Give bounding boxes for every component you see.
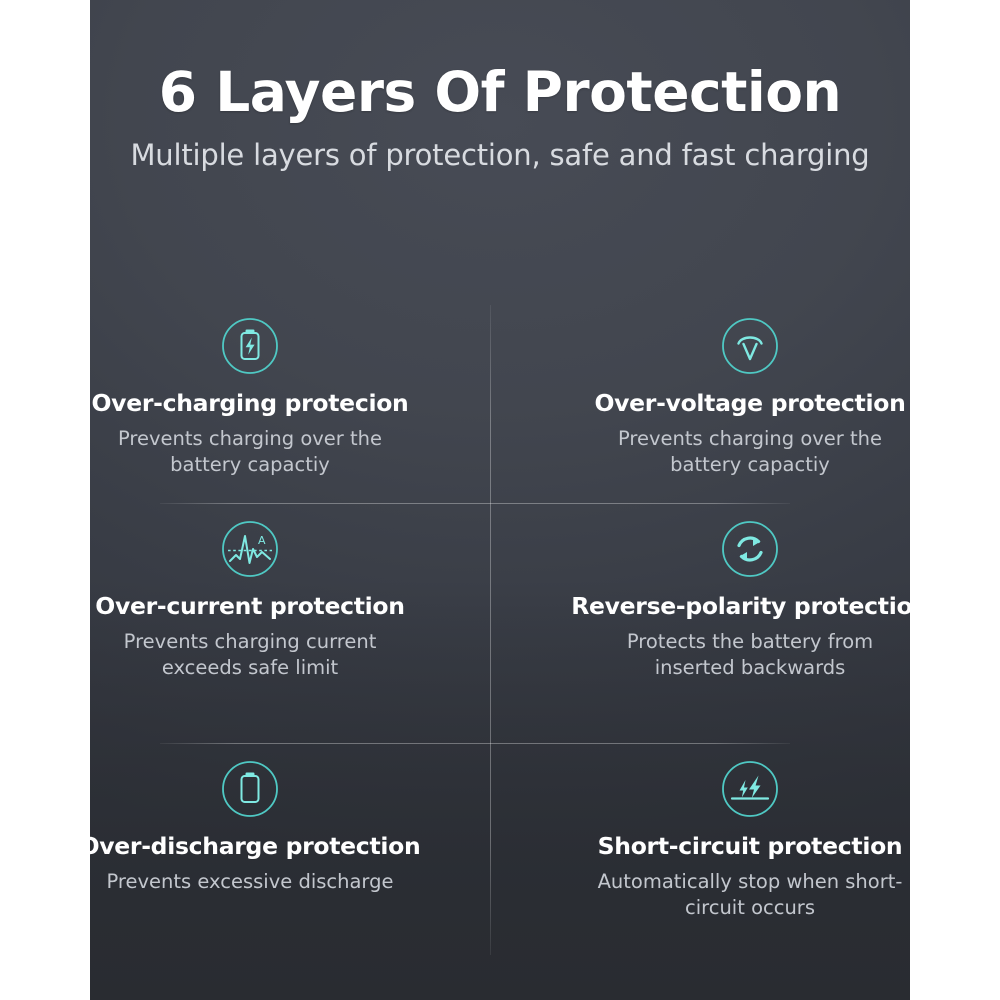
svg-text:A: A <box>258 534 266 547</box>
feature-title: Over-voltage protection <box>594 390 905 417</box>
features-grid: Over-charging protecion Prevents chargin… <box>0 300 1000 960</box>
feature-cell-short-circuit: Short-circuit protection Automatically s… <box>500 743 1000 960</box>
short-circuit-bolts-icon <box>720 759 780 819</box>
header: 6 Layers Of Protection Multiple layers o… <box>0 62 1000 172</box>
feature-description: Automatically stop when short-circuit oc… <box>585 869 915 922</box>
divider-vertical <box>490 305 491 955</box>
feature-title: Over-current protection <box>95 593 404 620</box>
feature-cell-reverse-polarity: Reverse-polarity protection Protects the… <box>500 503 1000 743</box>
feature-description: Prevents excessive discharge <box>107 869 394 895</box>
over-current-waveform-icon: A <box>220 519 280 579</box>
feature-title: Over-charging protecion <box>92 390 409 417</box>
page-subtitle: Multiple layers of protection, safe and … <box>0 138 1000 173</box>
divider-horizontal-bottom <box>160 743 790 744</box>
feature-description: Prevents charging over the battery capac… <box>585 426 915 479</box>
feature-description: Protects the battery from inserted backw… <box>585 629 915 682</box>
feature-title: Reverse-polarity protection <box>571 593 929 620</box>
feature-title: Over-discharge protection <box>80 833 421 860</box>
reverse-polarity-cycle-icon <box>720 519 780 579</box>
divider-horizontal-top <box>160 503 790 504</box>
feature-cell-over-current: A Over-current protection Prevents charg… <box>0 503 500 743</box>
feature-cell-over-voltage: Over-voltage protection Prevents chargin… <box>500 300 1000 503</box>
battery-charging-icon <box>220 316 280 376</box>
feature-description: Prevents charging current exceeds safe l… <box>85 629 415 682</box>
feature-description: Prevents charging over the battery capac… <box>85 426 415 479</box>
over-voltage-icon <box>720 316 780 376</box>
page-title: 6 Layers Of Protection <box>0 62 1000 124</box>
feature-title: Short-circuit protection <box>598 833 903 860</box>
promo-graphic: 6 Layers Of Protection Multiple layers o… <box>0 0 1000 1000</box>
battery-empty-icon <box>220 759 280 819</box>
feature-cell-over-discharge: Over-discharge protection Prevents exces… <box>0 743 500 960</box>
feature-cell-over-charging: Over-charging protecion Prevents chargin… <box>0 300 500 503</box>
